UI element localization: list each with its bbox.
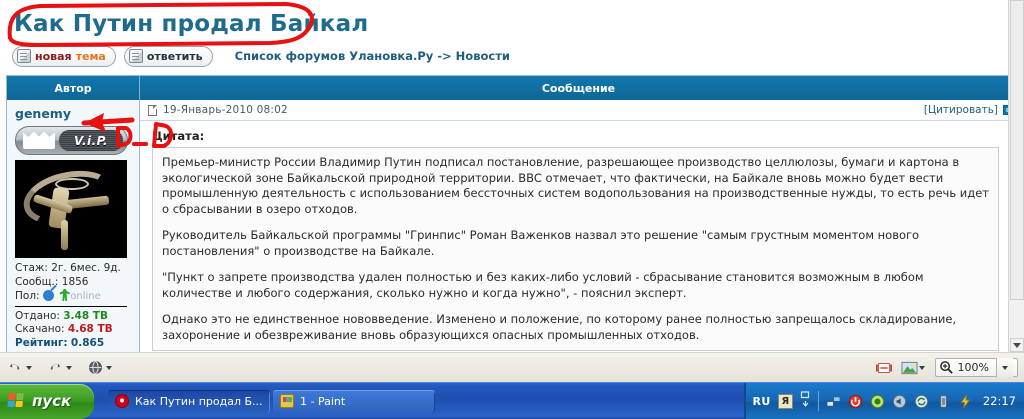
vip-badge: V.i.P. xyxy=(15,126,128,155)
antivirus-icon[interactable] xyxy=(848,394,863,409)
author-stats: Стаж: 2г. 6мес. 9д. Сообщ.: 1856 Пол: on… xyxy=(15,262,133,350)
message-cell: 19-Январь-2010 08:02 [Цитировать] Цитата… xyxy=(140,100,1017,352)
zoom-dropdown-button[interactable] xyxy=(996,358,1013,377)
system-tray: RU Я xyxy=(744,383,1024,419)
stat-row: Скачано: 4.68 TB xyxy=(15,323,133,337)
table-row: genemy V.i.P. xyxy=(7,100,1017,352)
start-button-label: пуск xyxy=(32,392,71,410)
stat-label: Сообщ.: xyxy=(15,276,58,288)
taskbar-item-label: 1 - Paint xyxy=(300,395,345,408)
forum-toolbar: новая тема ответить Список форумов Улано… xyxy=(0,43,1024,69)
language-indicator[interactable]: RU xyxy=(752,395,770,408)
zoom-level-label: 100% xyxy=(958,361,989,374)
crown-icon xyxy=(19,128,59,154)
stat-row: Отдано: 3.48 TB xyxy=(15,310,133,324)
windows-taskbar: пуск Как Путин продал Б... 1 - Paint RU … xyxy=(0,382,1024,419)
scrollbar-thumb[interactable] xyxy=(1010,0,1024,300)
media-icon[interactable] xyxy=(870,394,885,409)
quote-paragraph: Однако это не единственное нововведение.… xyxy=(162,312,989,343)
redo-arrow-icon xyxy=(48,360,63,375)
stat-value: 2г. 6мес. 9д. xyxy=(51,262,121,274)
fit-width-icon[interactable] xyxy=(876,360,891,375)
language-bar-icon[interactable]: Я xyxy=(778,394,793,409)
clock[interactable]: 22:17 xyxy=(983,394,1016,408)
stat-label: Скачано: xyxy=(15,323,65,335)
quote-button[interactable]: [Цитировать] xyxy=(924,104,998,116)
chevron-down-icon xyxy=(106,366,112,370)
chevron-down-icon xyxy=(66,366,72,370)
language-bar-restore-icon[interactable] xyxy=(800,390,811,412)
stat-label: Рейтинг: xyxy=(15,337,68,349)
stat-row: Стаж: 2г. 6мес. 9д. xyxy=(15,262,133,276)
online-label: online xyxy=(70,291,101,302)
page-title: Как Путин продал Байкал xyxy=(0,6,1024,41)
page-vertical-scrollbar[interactable] xyxy=(1008,0,1024,352)
male-gender-icon xyxy=(43,290,54,301)
reply-button[interactable]: ответить xyxy=(124,46,213,67)
chevron-down-icon xyxy=(919,366,925,370)
image-icon xyxy=(901,360,916,375)
stat-row: Сообщ.: 1856 xyxy=(15,276,133,290)
sync-icon[interactable] xyxy=(914,394,929,409)
stat-row: Пол: online xyxy=(15,289,133,304)
breadcrumb[interactable]: Список форумов Улановка.Ру -> Новости xyxy=(235,49,510,63)
author-cell: genemy V.i.P. xyxy=(7,100,140,352)
stat-value: 1856 xyxy=(62,276,89,288)
chevron-down-icon xyxy=(26,366,32,370)
post-header: 19-Январь-2010 08:02 [Цитировать] xyxy=(140,100,1017,121)
quote-box: Премьер-министр России Владимир Путин по… xyxy=(152,147,999,351)
tray-divider xyxy=(818,391,819,411)
browser-page: Как Путин продал Байкал новая тема ответ… xyxy=(0,0,1024,352)
opera-browser-icon xyxy=(115,394,129,408)
column-header-author: Автор xyxy=(7,76,140,100)
table-header-row: Автор Сообщение xyxy=(7,76,1017,100)
status-bar-right: 100% xyxy=(876,358,1018,377)
battery-icon[interactable] xyxy=(936,394,951,409)
globe-icon xyxy=(88,360,103,375)
paint-icon xyxy=(280,394,294,408)
chevron-down-icon xyxy=(1002,366,1008,370)
new-topic-button[interactable]: новая тема xyxy=(12,46,116,67)
stat-label: Отдано: xyxy=(15,310,60,322)
new-topic-label-2: тема xyxy=(76,50,106,63)
start-button[interactable]: пуск xyxy=(0,384,94,419)
browser-status-bar: 100% xyxy=(0,352,1024,382)
lightning-icon[interactable] xyxy=(958,394,973,409)
status-bar-left xyxy=(8,360,112,375)
quote-label: Цитата: xyxy=(152,129,1007,143)
vip-badge-label: V.i.P. xyxy=(59,130,123,151)
post-document-icon xyxy=(148,105,157,116)
screen-root: Как Путин продал Байкал новая тема ответ… xyxy=(0,0,1024,419)
new-topic-icon xyxy=(17,49,31,63)
taskbar-item-paint[interactable]: 1 - Paint xyxy=(273,390,435,413)
reply-icon xyxy=(129,49,143,63)
reply-label: ответить xyxy=(147,50,203,63)
post-body: Цитата: Премьер-министр России Владимир … xyxy=(140,121,1017,352)
taskbar-buttons: Как Путин продал Б... 1 - Paint xyxy=(108,390,435,413)
stats-divider xyxy=(15,306,127,307)
online-status-icon xyxy=(59,289,70,301)
taskbar-item-browser[interactable]: Как Путин продал Б... xyxy=(108,390,270,413)
quote-paragraph: Премьер-министр России Владимир Путин по… xyxy=(162,155,989,217)
network-icon[interactable] xyxy=(826,394,841,409)
stat-row: Рейтинг: 0.865 xyxy=(15,337,133,351)
scroll-down-button[interactable] xyxy=(1010,338,1024,352)
new-topic-label-1: новая xyxy=(35,50,72,63)
posts-table: Автор Сообщение genemy V.i.P. xyxy=(6,75,1018,352)
image-mode-button[interactable] xyxy=(901,360,925,375)
post-header-actions: [Цитировать] xyxy=(924,104,1013,116)
zoom-control[interactable]: 100% xyxy=(935,358,1018,377)
stat-label: Стаж: xyxy=(15,262,48,274)
undo-arrow-icon xyxy=(8,360,23,375)
stat-value: 0.865 xyxy=(71,337,104,349)
taskbar-item-label: Как Путин продал Б... xyxy=(135,395,263,408)
avatar xyxy=(15,160,127,258)
author-username[interactable]: genemy xyxy=(15,106,133,121)
column-header-message: Сообщение xyxy=(140,76,1017,100)
stat-value: 4.68 TB xyxy=(68,323,113,335)
redo-button[interactable] xyxy=(48,360,72,375)
globe-button[interactable] xyxy=(88,360,112,375)
undo-button[interactable] xyxy=(8,360,32,375)
stat-value: 3.48 TB xyxy=(63,310,108,322)
quote-paragraph: Руководитель Байкальской программы "Грин… xyxy=(162,228,989,259)
sound-icon[interactable] xyxy=(892,394,907,409)
stat-label: Пол: xyxy=(15,290,40,302)
quote-paragraph: "Пункт о запрете производства удален пол… xyxy=(162,270,989,301)
windows-logo-icon xyxy=(7,393,26,409)
magnifier-plus-icon xyxy=(939,360,954,375)
post-date: 19-Январь-2010 08:02 xyxy=(163,104,288,116)
